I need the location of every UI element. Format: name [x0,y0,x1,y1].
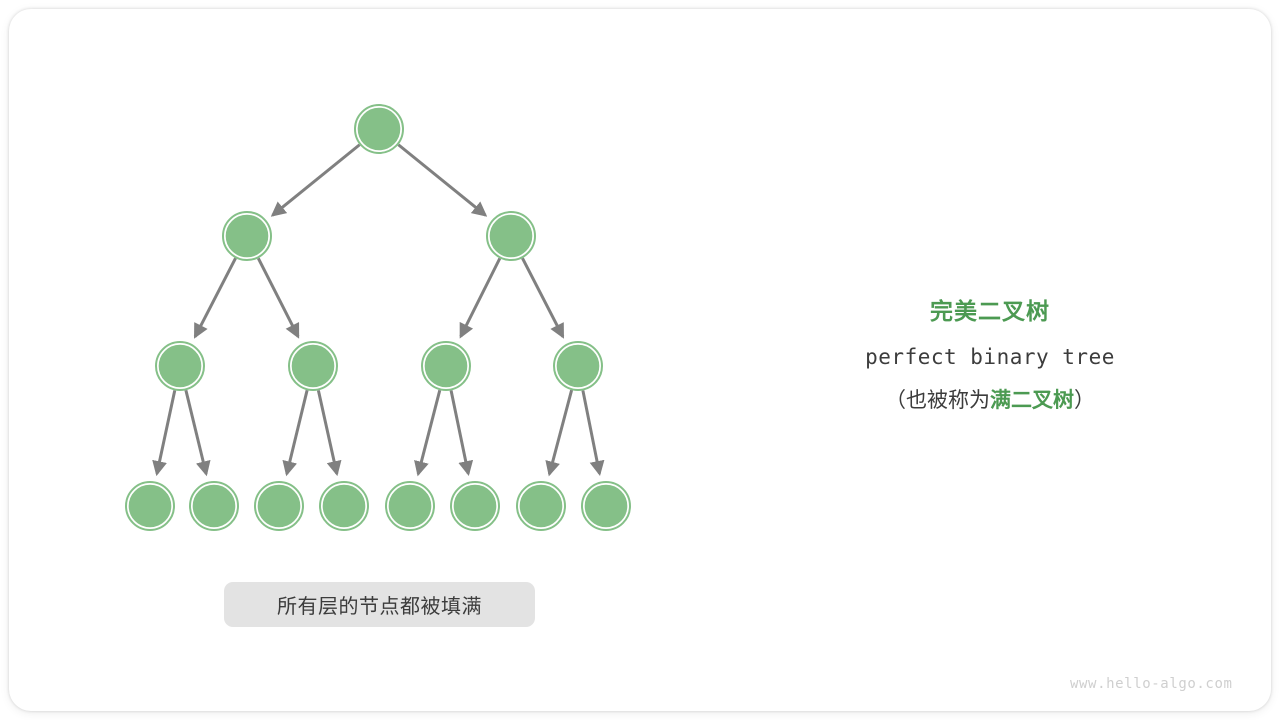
tree-edge [549,390,571,474]
tree-node-body [521,486,562,527]
legend-alias-suffix: ） [1074,389,1095,412]
tree-node-body [586,486,627,527]
tree-node [422,342,470,390]
legend-alias-prefix: （也被称为 [885,389,990,412]
tree-node-body [359,109,400,150]
tree-node [451,482,499,530]
legend-block: 完美二叉树 perfect binary tree （也被称为满二叉树） [790,296,1190,416]
tree-node-body [259,486,300,527]
caption-label: 所有层的节点都被填满 [277,590,482,619]
tree-edge [157,390,175,473]
tree-node [487,212,535,260]
legend-title: 完美二叉树 [790,296,1190,326]
tree-node-body [130,486,171,527]
tree-node-body [390,486,431,527]
tree-node-body [455,486,496,527]
tree-node-body [227,216,268,257]
tree-node-body [558,346,599,387]
tree-node [517,482,565,530]
tree-node-body [491,216,532,257]
legend-alias-strong: 满二叉树 [990,389,1074,412]
tree-edge [273,145,360,215]
tree-edge [583,391,600,474]
tree-edge [318,390,336,473]
tree-edge-layer [157,145,600,474]
tree-node [190,482,238,530]
tree-edge [522,258,562,336]
tree-edge [258,258,298,336]
tree-node-body [324,486,365,527]
tree-edge [418,390,440,474]
legend-subtitle: perfect binary tree [790,342,1190,372]
tree-node [156,342,204,390]
tree-node [223,212,271,260]
caption-pill: 所有层的节点都被填满 [224,582,535,627]
tree-node [320,482,368,530]
tree-node [126,482,174,530]
watermark-label: www.hello-algo.com [1070,676,1233,692]
tree-node [582,482,630,530]
screenshot-root: 所有层的节点都被填满 完美二叉树 perfect binary tree （也被… [0,0,1280,720]
tree-node [554,342,602,390]
tree-edge [451,390,468,473]
tree-node [355,105,403,153]
tree-node [289,342,337,390]
tree-edge [461,258,500,336]
tree-edge [186,390,206,474]
tree-node [255,482,303,530]
tree-node-body [194,486,235,527]
tree-edge [398,145,485,215]
tree-edge [195,258,235,336]
legend-alias: （也被称为满二叉树） [790,386,1190,416]
tree-node-body [293,346,334,387]
tree-node-body [426,346,467,387]
tree-node [386,482,434,530]
tree-node-body [160,346,201,387]
tree-edge [287,390,307,474]
